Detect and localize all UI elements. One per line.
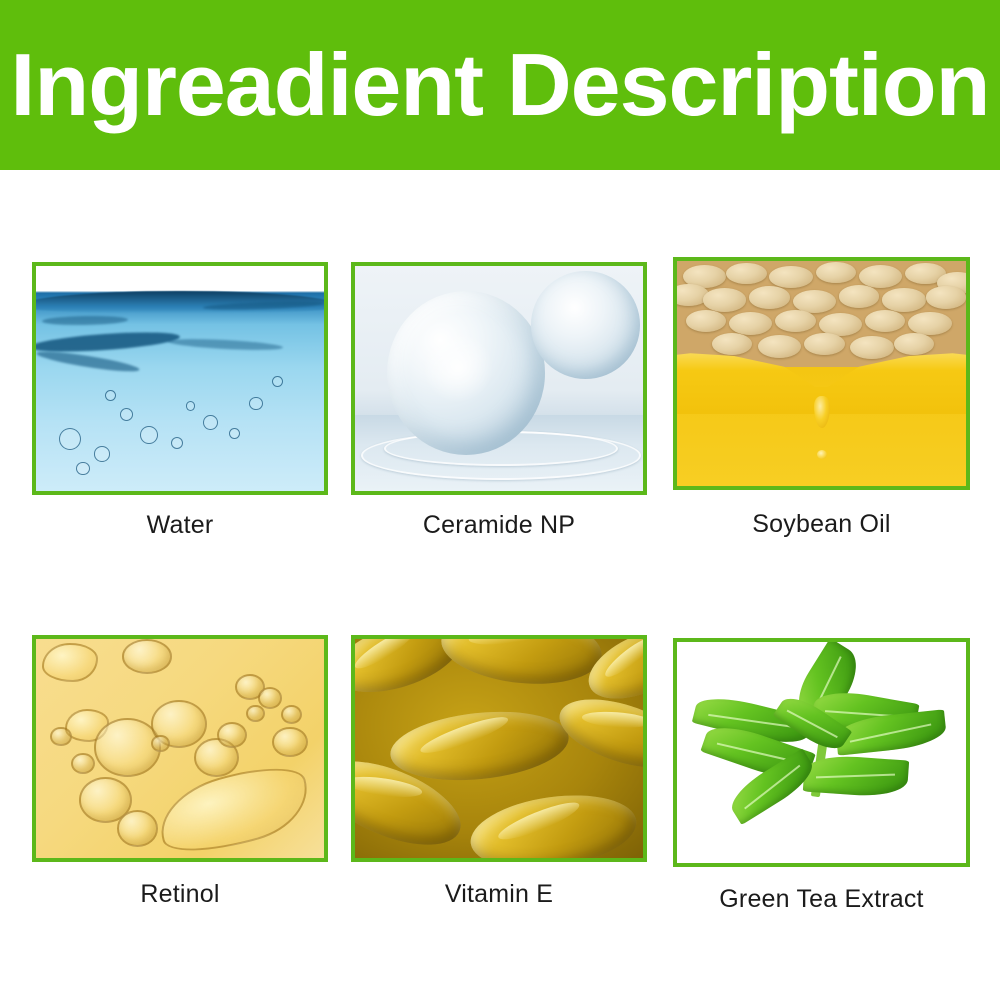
ingredient-label: Ceramide NP <box>423 511 575 540</box>
ingredient-grid: Water Ceramide NP <box>0 170 1000 1000</box>
ingredient-thumbnail <box>673 638 970 867</box>
ingredient-card-vitamin-e[interactable]: Vitamin E <box>351 635 647 909</box>
ingredient-card-ceramide-np[interactable]: Ceramide NP <box>351 262 647 540</box>
ingredient-label: Retinol <box>140 880 219 909</box>
ingredient-card-water[interactable]: Water <box>32 262 328 540</box>
ingredient-card-retinol[interactable]: Retinol <box>32 635 328 909</box>
oil-bubbles-icon <box>36 639 324 858</box>
leaf-icon <box>677 642 966 863</box>
ingredient-label: Water <box>147 511 214 540</box>
ingredient-thumbnail <box>32 262 328 495</box>
ingredient-label: Green Tea Extract <box>719 885 923 914</box>
droplet-icon <box>355 266 643 491</box>
soybean-icon <box>677 261 966 486</box>
ingredient-label: Vitamin E <box>445 880 553 909</box>
page-title: Ingreadient Description <box>0 41 999 129</box>
ingredient-label: Soybean Oil <box>752 510 890 539</box>
water-icon <box>36 266 324 491</box>
ingredient-thumbnail <box>351 262 647 495</box>
ingredient-card-soybean-oil[interactable]: Soybean Oil <box>673 257 970 539</box>
header-banner: Ingreadient Description <box>0 0 1000 170</box>
ingredient-card-green-tea-extract[interactable]: Green Tea Extract <box>673 638 970 914</box>
ingredient-thumbnail <box>32 635 328 862</box>
ingredient-thumbnail <box>673 257 970 490</box>
capsule-icon <box>355 639 643 858</box>
ingredient-thumbnail <box>351 635 647 862</box>
